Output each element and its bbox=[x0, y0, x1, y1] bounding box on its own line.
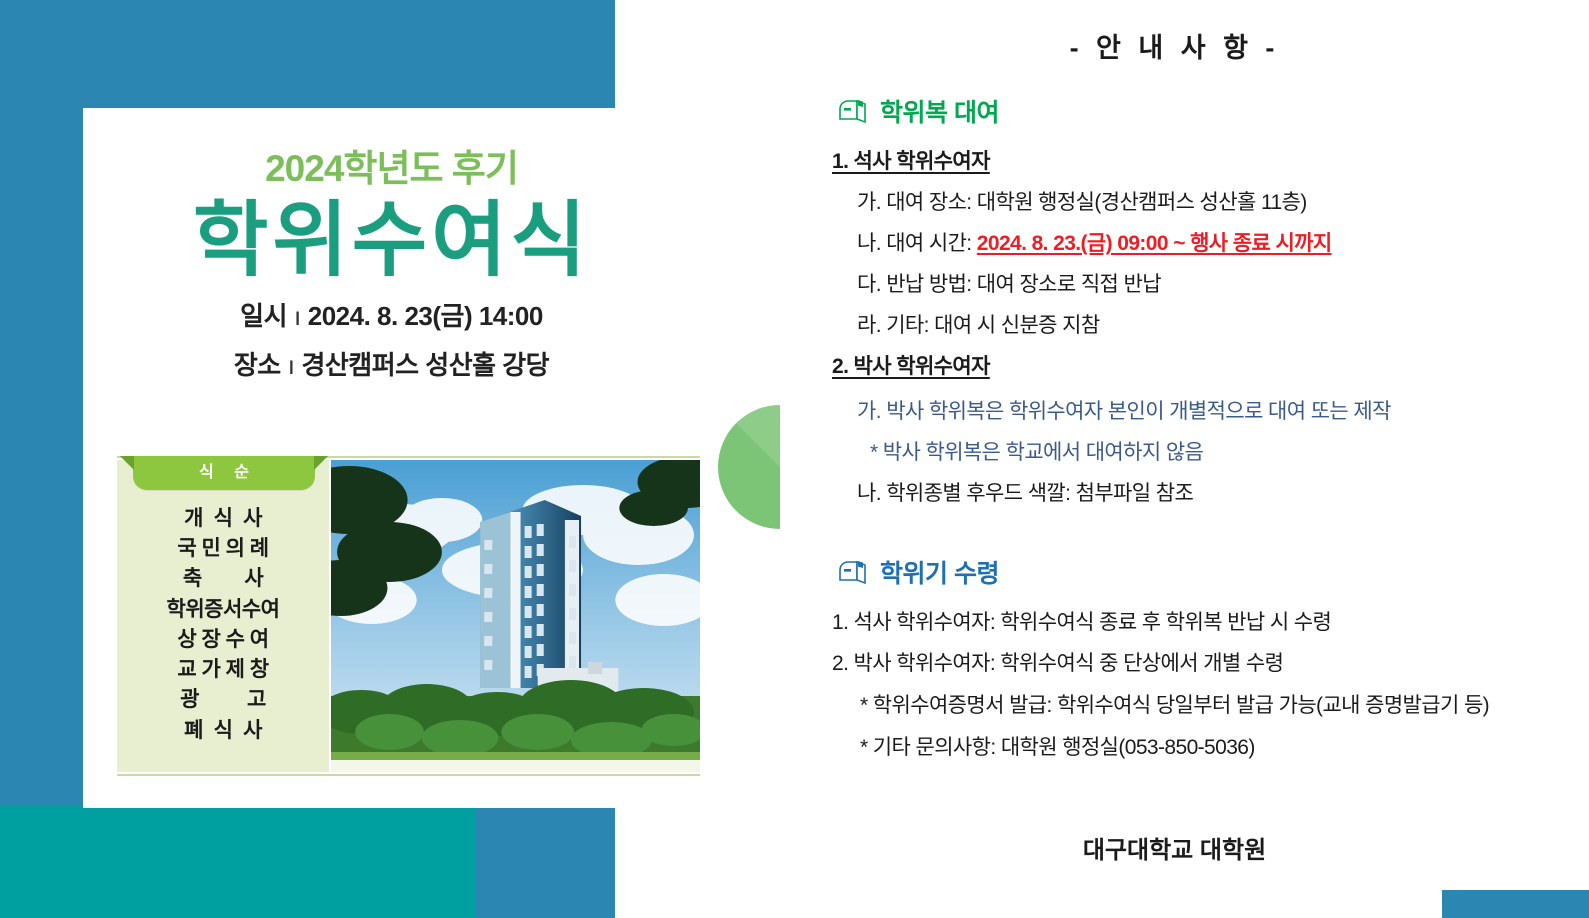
rental-time-prefix: 나. 대여 시간: bbox=[857, 232, 977, 255]
list-item: * 학위수여증명서 발급: 학위수여식 당일부터 발급 가능(교내 증명발급기 … bbox=[860, 695, 1589, 716]
list-item: 교 가 제 창 bbox=[117, 655, 329, 685]
list-item: 2. 박사 학위수여자 bbox=[832, 356, 1589, 377]
campus-photo-illustration bbox=[331, 460, 700, 772]
rental-time-emphasis: 2024. 8. 23.(금) 09:00 ~ 행사 종료 시까지 bbox=[977, 232, 1332, 255]
poster-bottom-panel: 식 순 개 식 사 국 민 의 례 축 사 학위증서수여 상 장 수 여 교 가… bbox=[117, 460, 700, 772]
poster-place-row: 장소ı경산캠퍼스 성산홀 강당 bbox=[83, 345, 700, 382]
list-item: 1. 석사 학위수여자 bbox=[832, 151, 1589, 172]
organization-footer: 대구대학교 대학원 bbox=[760, 830, 1589, 865]
section-title: 학위복 대여 bbox=[880, 93, 999, 129]
poster-date-value: 2024. 8. 23(금) 14:00 bbox=[308, 301, 543, 331]
poster-date-row: 일시ı2024. 8. 23(금) 14:00 bbox=[83, 296, 700, 333]
list-item: 국 민 의 례 bbox=[117, 534, 329, 564]
list-item: 2. 박사 학위수여자: 학위수여식 중 단상에서 개별 수령 bbox=[832, 653, 1589, 674]
program-box: 식 순 개 식 사 국 민 의 례 축 사 학위증서수여 상 장 수 여 교 가… bbox=[117, 460, 331, 772]
page-title: - 안 내 사 항 - bbox=[760, 26, 1589, 65]
list-item: 광 고 bbox=[117, 685, 329, 715]
list-item: 라. 기타: 대여 시 신분증 지참 bbox=[857, 315, 1589, 336]
list-item: 나. 학위종별 후우드 색깔: 첨부파일 참조 bbox=[857, 483, 1589, 504]
mailbox-icon bbox=[838, 98, 868, 124]
teal-bottom-block bbox=[0, 805, 476, 918]
list-item: 상 장 수 여 bbox=[117, 625, 329, 655]
list-item: * 박사 학위복은 학교에서 대여하지 않음 bbox=[870, 442, 1589, 463]
blue-left-strip bbox=[0, 108, 83, 808]
slide-canvas: 2024학년도 후기 학위수여식 일시ı2024. 8. 23(금) 14:00… bbox=[0, 0, 1589, 918]
list-item: 축 사 bbox=[117, 564, 329, 594]
poster-place-label: 장소 bbox=[234, 350, 281, 380]
poster-year-line: 2024학년도 후기 bbox=[83, 138, 700, 192]
poster-place-value: 경산캠퍼스 성산홀 강당 bbox=[301, 350, 549, 380]
list-item: 다. 반납 방법: 대여 장소로 직접 반납 bbox=[857, 274, 1589, 295]
list-item: 가. 대여 장소: 대학원 행정실(경산캠퍼스 성산홀 11층) bbox=[857, 192, 1589, 213]
poster-title: 학위수여식 bbox=[83, 198, 700, 284]
list-item: 폐 식 사 bbox=[117, 716, 329, 746]
section-header-diploma-pickup: 학위기 수령 bbox=[838, 554, 1589, 590]
poster-divider-bottom bbox=[117, 774, 700, 776]
list-item-label: 2. 박사 학위수여자 bbox=[832, 355, 990, 378]
poster-date-label: 일시 bbox=[240, 301, 287, 331]
announcement-panel: - 안 내 사 항 - 학위복 대여 1. 석사 학위수여자 가. 대여 장소:… bbox=[760, 0, 1589, 918]
date-separator: ı bbox=[287, 301, 308, 331]
list-item-rental-time: 나. 대여 시간: 2024. 8. 23.(금) 09:00 ~ 행사 종료 … bbox=[857, 233, 1589, 254]
section-header-gown-rental: 학위복 대여 bbox=[838, 93, 1589, 129]
place-separator: ı bbox=[281, 350, 302, 380]
list-item: 1. 석사 학위수여자: 학위수여식 종료 후 학위복 반납 시 수령 bbox=[832, 612, 1589, 633]
program-list: 개 식 사 국 민 의 례 축 사 학위증서수여 상 장 수 여 교 가 제 창… bbox=[117, 460, 329, 746]
mailbox-icon bbox=[838, 559, 868, 585]
list-item-label: 1. 석사 학위수여자 bbox=[832, 150, 990, 173]
campus-building-photo bbox=[331, 460, 700, 772]
list-item: 개 식 사 bbox=[117, 504, 329, 534]
program-banner: 식 순 bbox=[133, 456, 315, 490]
list-item: 가. 박사 학위복은 학위수여자 본인이 개별적으로 대여 또는 제작 bbox=[857, 401, 1589, 422]
section-title: 학위기 수령 bbox=[880, 554, 999, 590]
list-item: * 기타 문의사항: 대학원 행정실(053-850-5036) bbox=[860, 737, 1589, 758]
ceremony-poster: 2024학년도 후기 학위수여식 일시ı2024. 8. 23(금) 14:00… bbox=[83, 108, 700, 808]
list-item: 학위증서수여 bbox=[117, 595, 329, 625]
blue-top-left-block bbox=[0, 0, 615, 108]
